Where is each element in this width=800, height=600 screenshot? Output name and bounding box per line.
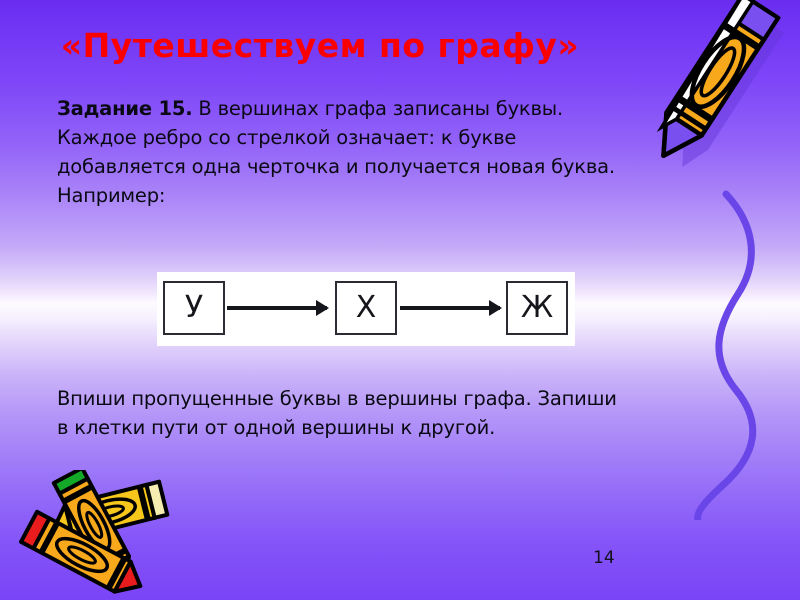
squiggle-line-icon <box>680 190 800 520</box>
slide-canvas: «Путешествуем по графу» Задание 15. В ве… <box>0 0 800 600</box>
graph-node-1: У <box>163 281 225 335</box>
graph-edge-2-arrow <box>400 306 500 310</box>
crayons-bottom-left-icon <box>2 470 202 600</box>
page-title: «Путешествуем по графу» <box>0 26 640 66</box>
crayon-top-right-icon <box>630 0 800 188</box>
graph-edge-1-arrow <box>227 306 327 310</box>
graph-node-3-letter: Ж <box>521 293 553 323</box>
task-label: Задание 15. <box>57 97 192 120</box>
task-statement-paragraph: Задание 15. В вершинах графа записаны бу… <box>57 94 637 210</box>
graph-figure: У Х Ж <box>157 272 575 346</box>
graph-node-2: Х <box>335 281 397 335</box>
task-instruction-paragraph: Впиши пропущенные буквы в вершины графа.… <box>57 384 617 442</box>
graph-node-1-letter: У <box>185 293 203 323</box>
page-number: 14 <box>593 548 615 568</box>
graph-node-3: Ж <box>506 281 568 335</box>
graph-node-2-letter: Х <box>356 293 377 323</box>
